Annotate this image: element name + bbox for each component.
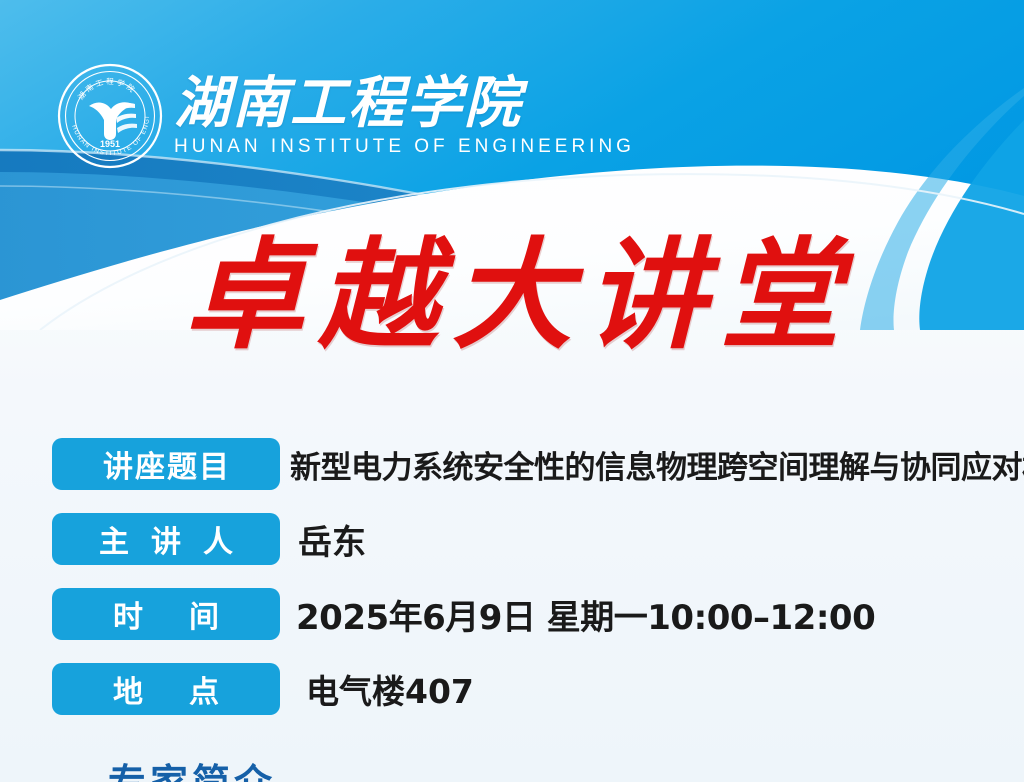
value-lecture-title: 新型电力系统安全性的信息物理跨空间理解与协同应对机制 [290,442,1024,487]
main-title: 卓越大讲堂 [0,236,1024,356]
label-badge-time: 时间 [52,588,280,640]
info-row-speaker: 主讲人 岳东 [0,513,1024,565]
value-location: 电气楼407 [306,665,474,713]
emblem-ring-text-cn: 湖南工程学院 [76,77,139,102]
university-name-en: HUNAN INSTITUTE OF ENGINEERING [174,136,635,158]
lecture-poster: 1951 湖南工程学院 HUNAN INSTITUTE OF ENGINEERI… [0,0,1024,782]
university-name-cn: 湖南工程学院 [174,74,635,133]
value-speaker: 岳东 [298,515,366,564]
lecture-info-list: 讲座题目 新型电力系统安全性的信息物理跨空间理解与协同应对机制 主讲人 岳东 时… [0,438,1024,738]
emblem-year: 1951 [100,139,120,149]
info-row-time: 时间 2025年6月9日 星期一10:00–12:00 [0,588,1024,640]
info-row-lecture-title: 讲座题目 新型电力系统安全性的信息物理跨空间理解与协同应对机制 [0,438,1024,490]
info-row-location: 地点 电气楼407 [0,663,1024,715]
university-logo-block: 1951 湖南工程学院 HUNAN INSTITUTE OF ENGINEERI… [56,62,635,170]
value-time: 2025年6月9日 星期一10:00–12:00 [296,590,875,639]
svg-text:湖南工程学院: 湖南工程学院 [76,77,139,102]
university-wordmark: 湖南工程学院 HUNAN INSTITUTE OF ENGINEERING [174,74,635,158]
section-heading-expert-profile: 专家简介 [108,752,276,782]
label-badge-lecture-title: 讲座题目 [52,438,280,490]
label-badge-speaker: 主讲人 [52,513,280,565]
label-badge-location: 地点 [52,663,280,715]
university-emblem-icon: 1951 湖南工程学院 HUNAN INSTITUTE OF ENGINEERI… [56,62,164,170]
